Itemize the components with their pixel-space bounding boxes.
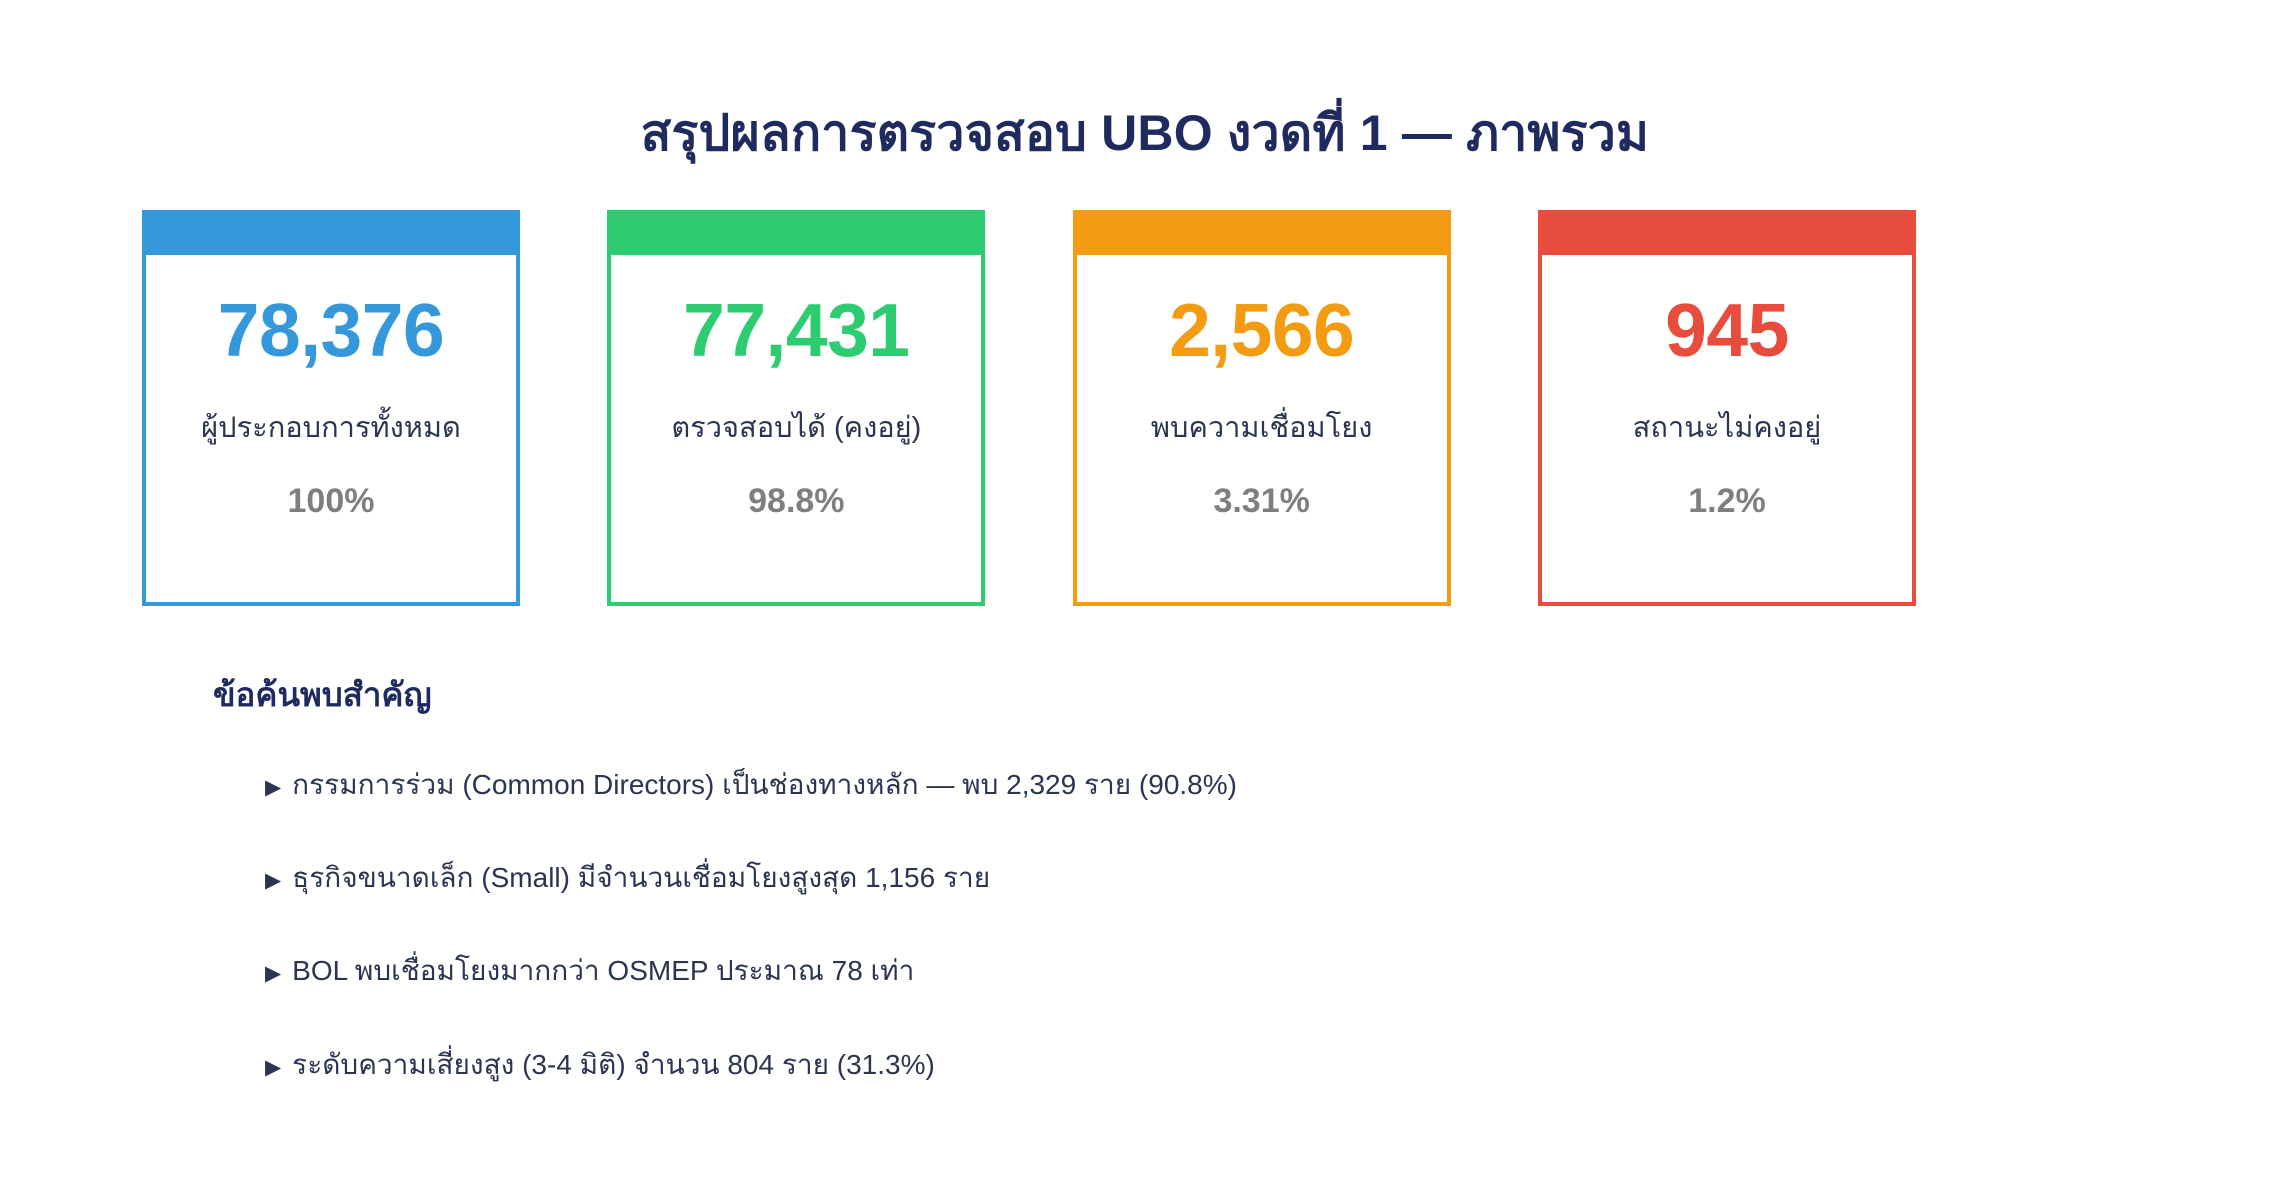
- list-item: ▶ BOL พบเชื่อมโยงมากกว่า OSMEP ประมาณ 78…: [213, 953, 2113, 989]
- kpi-percent: 100%: [288, 484, 375, 518]
- list-item-label: กรรมการร่วม (Common Directors) เป็นช่องท…: [292, 767, 1237, 803]
- list-item-label: ธุรกิจขนาดเล็ก (Small) มีจำนวนเชื่อมโยงส…: [292, 860, 990, 896]
- kpi-label: สถานะไม่คงอยู่: [1633, 410, 1822, 446]
- kpi-card-body: 2,566 พบความเชื่อมโยง 3.31%: [1077, 255, 1447, 602]
- key-findings-section: ข้อค้นพบสำคัญ ▶ กรรมการร่วม (Common Dire…: [213, 675, 2113, 1083]
- kpi-value: 2,566: [1169, 293, 1354, 368]
- list-item-label: BOL พบเชื่อมโยงมากกว่า OSMEP ประมาณ 78 เ…: [292, 953, 914, 989]
- kpi-card-body: 78,376 ผู้ประกอบการทั้งหมด 100%: [146, 255, 516, 602]
- kpi-card-body: 77,431 ตรวจสอบได้ (คงอยู่) 98.8%: [611, 255, 981, 602]
- kpi-card-inactive-status[interactable]: 945 สถานะไม่คงอยู่ 1.2%: [1538, 210, 1916, 606]
- kpi-value: 77,431: [683, 293, 909, 368]
- kpi-percent: 1.2%: [1688, 484, 1766, 518]
- kpi-card-linkage-found[interactable]: 2,566 พบความเชื่อมโยง 3.31%: [1073, 210, 1451, 606]
- kpi-card-verified-active[interactable]: 77,431 ตรวจสอบได้ (คงอยู่) 98.8%: [607, 210, 985, 606]
- bullet-triangle-icon: ▶: [265, 870, 281, 891]
- kpi-card-total-operators[interactable]: 78,376 ผู้ประกอบการทั้งหมด 100%: [142, 210, 520, 606]
- list-item: ▶ ระดับความเสี่ยงสูง (3-4 มิติ) จำนวน 80…: [213, 1047, 2113, 1083]
- page-title: สรุปผลการตรวจสอบ UBO งวดที่ 1 — ภาพรวม: [0, 104, 2290, 163]
- kpi-percent: 98.8%: [748, 484, 844, 518]
- kpi-label: ผู้ประกอบการทั้งหมด: [201, 410, 461, 446]
- key-findings-heading: ข้อค้นพบสำคัญ: [213, 675, 2113, 715]
- kpi-card-accent-bar: [607, 210, 985, 255]
- slide-root: สรุปผลการตรวจสอบ UBO งวดที่ 1 — ภาพรวม 7…: [0, 0, 2290, 1198]
- kpi-card-body: 945 สถานะไม่คงอยู่ 1.2%: [1542, 255, 1912, 602]
- kpi-label: ตรวจสอบได้ (คงอยู่): [671, 410, 921, 446]
- list-item: ▶ กรรมการร่วม (Common Directors) เป็นช่อ…: [213, 767, 2113, 803]
- key-findings-list: ▶ กรรมการร่วม (Common Directors) เป็นช่อ…: [213, 767, 2113, 1084]
- kpi-value: 945: [1665, 293, 1789, 368]
- kpi-card-accent-bar: [1073, 210, 1451, 255]
- list-item: ▶ ธุรกิจขนาดเล็ก (Small) มีจำนวนเชื่อมโย…: [213, 860, 2113, 896]
- kpi-card-row: 78,376 ผู้ประกอบการทั้งหมด 100% 77,431 ต…: [142, 210, 1916, 606]
- list-item-label: ระดับความเสี่ยงสูง (3-4 มิติ) จำนวน 804 …: [292, 1047, 935, 1083]
- kpi-label: พบความเชื่อมโยง: [1151, 410, 1372, 446]
- bullet-triangle-icon: ▶: [265, 963, 281, 984]
- kpi-card-accent-bar: [142, 210, 520, 255]
- kpi-card-accent-bar: [1538, 210, 1916, 255]
- kpi-value: 78,376: [218, 293, 444, 368]
- bullet-triangle-icon: ▶: [265, 777, 281, 798]
- kpi-percent: 3.31%: [1213, 484, 1309, 518]
- bullet-triangle-icon: ▶: [265, 1057, 281, 1078]
